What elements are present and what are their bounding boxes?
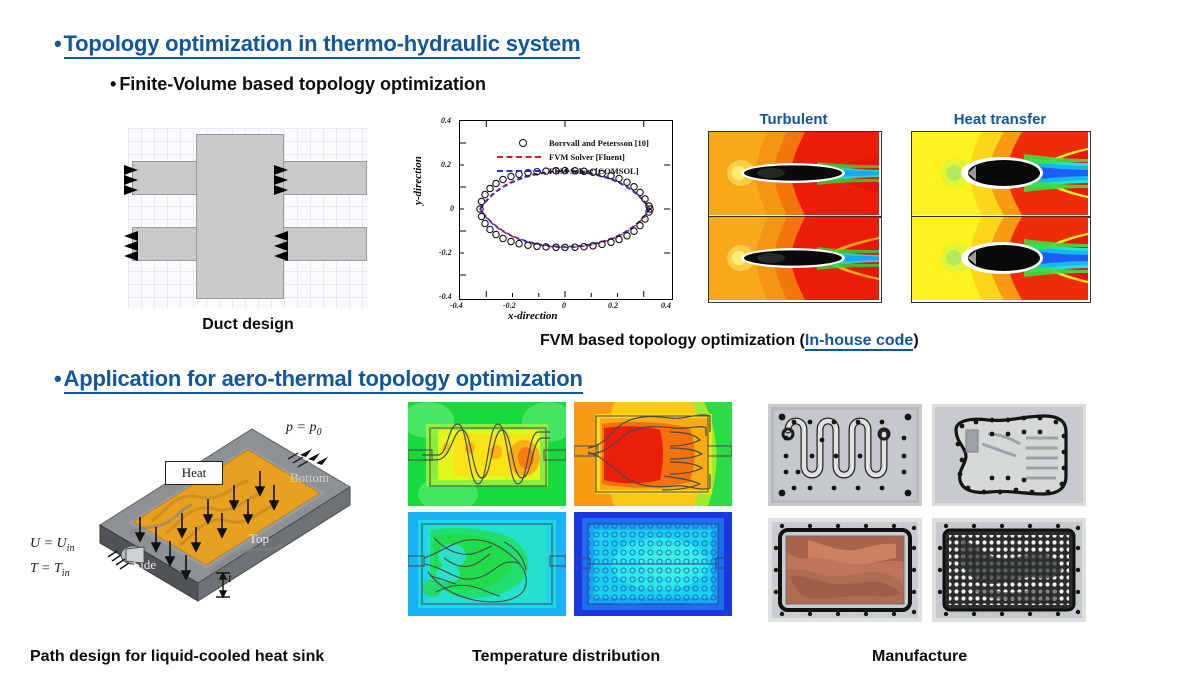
side-face-label: Side (133, 557, 156, 573)
temperature-panel-serpentine (408, 402, 566, 506)
chart-xtick-1: -0.2 (503, 301, 516, 310)
heading-text-1: Topology optimization in thermo-hydrauli… (64, 31, 581, 59)
subheading-bullet: • (110, 74, 116, 94)
legend-label-0: Borrvall and Petersson [10] (549, 138, 649, 148)
chart-ylabel: y-direction (412, 156, 424, 205)
legend-dash-red-icon (497, 156, 549, 158)
manufacture-photo-copper-topology (768, 518, 922, 622)
subheading-text: Finite-Volume based topology optimizatio… (119, 74, 486, 94)
velocity-bc-label: U = Uin (30, 536, 75, 554)
section-heading-1: •Topology optimization in thermo-hydraul… (54, 31, 580, 57)
cfd-tile-heat-top (911, 131, 1091, 218)
duct-design-domain (196, 134, 284, 299)
cfd-panel-title-heat: Heat transfer (905, 111, 1095, 128)
chart-ytick-0: 0.4 (441, 116, 451, 125)
heatsink-caption: Path design for liquid-cooled heat sink (30, 648, 324, 666)
fvm-caption: FVM based topology optimization (In-hous… (540, 332, 919, 350)
chart-xtick-3: 0.2 (608, 301, 618, 310)
temperature-bc-label: T = Tin (30, 561, 70, 579)
pressure-bc-label: p = p0 (286, 420, 322, 438)
fvm-caption-suffix: ) (913, 332, 918, 349)
top-face-label: Top (249, 531, 269, 547)
manufacture-photo-serpentine (768, 404, 922, 506)
chart-xlabel: x-direction (508, 310, 558, 322)
heading-bullet-2: • (54, 366, 62, 391)
temperature-panel-topology (408, 512, 566, 616)
legend-dash-blue-icon (497, 170, 549, 172)
chart-xtick-0: -0.4 (450, 301, 463, 310)
cfd-panel-title-turbulent: Turbulent (706, 111, 881, 128)
section-heading-2: •Application for aero-thermal topology o… (54, 366, 583, 392)
heatsink-3d-figure (20, 405, 400, 630)
chart-xtick-2: 0 (562, 301, 566, 310)
fvm-caption-prefix: FVM based topology optimization ( (540, 332, 805, 349)
legend-label-2: FEM Solver [COMSOL] (549, 166, 639, 176)
chart-legend-item-2: FEM Solver [COMSOL] (497, 166, 639, 176)
duct-arrows-top-left (124, 165, 140, 189)
manufacture-caption: Manufacture (872, 648, 967, 666)
duct-port-bottom-right (281, 227, 367, 261)
subheading-fvm: •Finite-Volume based topology optimizati… (110, 74, 486, 95)
chart-ytick-4: -0.4 (439, 292, 452, 301)
heat-label-box: Heat (165, 461, 223, 485)
duct-design-caption: Duct design (128, 316, 368, 334)
temperature-caption: Temperature distribution (472, 648, 660, 666)
chart-ytick-2: 0 (450, 204, 454, 213)
duct-arrows-bottom-left (124, 231, 140, 255)
manufacture-photo-branched (932, 404, 1086, 506)
duct-arrows-top-right (274, 165, 290, 189)
thickness-label: t (228, 570, 232, 586)
temperature-panel-pinfin (574, 512, 732, 616)
chart-ytick-3: -0.2 (439, 248, 452, 257)
legend-marker-circle-icon (497, 139, 549, 147)
temperature-panel-branched (574, 402, 732, 506)
duct-arrows-bottom-right (274, 231, 290, 255)
manufacture-photo-pinfin (932, 518, 1086, 622)
duct-design-figure (128, 128, 368, 308)
chart-ytick-1: 0.2 (441, 160, 451, 169)
chart-xtick-4: 0.4 (661, 301, 671, 310)
chart-legend-item-0: Borrvall and Petersson [10] (497, 138, 649, 148)
cfd-tile-turbulent-top (708, 131, 882, 218)
legend-label-1: FVM Solver [Fluent] (549, 152, 625, 162)
chart-legend-item-1: FVM Solver [Fluent] (497, 152, 625, 162)
duct-port-top-right (281, 161, 367, 195)
bottom-face-label: Bottom (290, 470, 329, 486)
heading-bullet-1: • (54, 31, 62, 56)
cfd-tile-turbulent-bottom (708, 216, 882, 303)
heading-text-2: Application for aero-thermal topology op… (64, 366, 583, 394)
cfd-tile-heat-bottom (911, 216, 1091, 303)
in-house-code-link[interactable]: In-house code (805, 332, 913, 351)
